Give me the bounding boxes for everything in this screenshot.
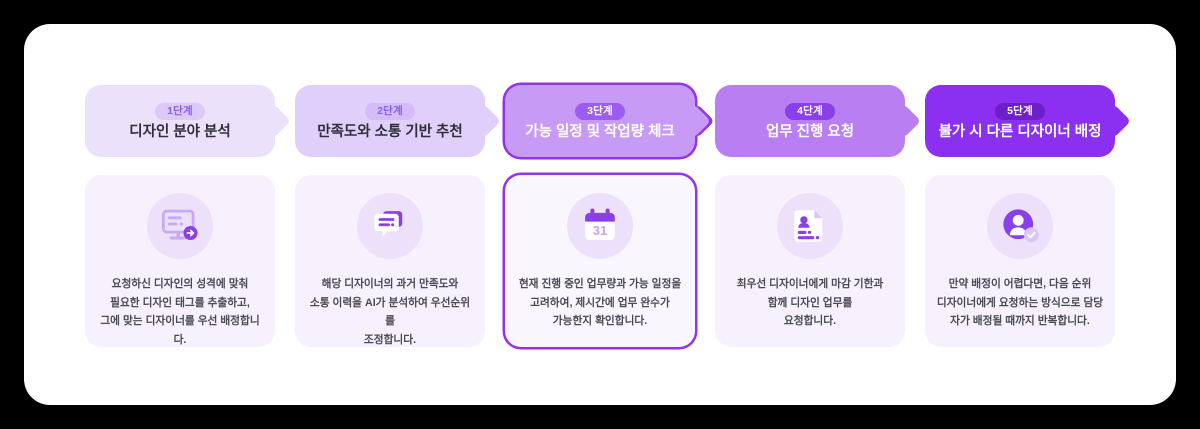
step-description: 현재 진행 중인 업무량과 가능 일정을 고려하여, 제시간에 업무 완수가 가…	[509, 275, 691, 331]
chat-bubble-icon	[369, 205, 411, 247]
step-body-1[interactable]: 요청하신 디자인의 성격에 맞춰 필요한 디자인 태그를 추출하고, 그에 맞는…	[85, 175, 275, 347]
chevron-right-icon	[257, 104, 291, 138]
step-header-content: 3단계가능 일정 및 작업량 체크	[525, 103, 675, 140]
step-description: 해당 디자이너의 과거 만족도와 소통 이력을 AI가 분석하여 우선순위를 조…	[295, 275, 485, 350]
step-badge: 1단계	[155, 103, 205, 121]
process-flow: 1단계디자인 분야 분석요청하신 디자인의 성격에 맞춰 필요한 디자인 태그를…	[85, 85, 1115, 347]
calendar-31-icon: 31	[579, 205, 621, 247]
step-header-4[interactable]: 4단계업무 진행 요청	[715, 85, 905, 157]
step-column-2: 2단계만족도와 소통 기반 추천해당 디자이너의 과거 만족도와 소통 이력을 …	[295, 85, 485, 347]
step-title: 불가 시 다른 디자이너 배정	[939, 125, 1102, 140]
step-header-content: 4단계업무 진행 요청	[766, 103, 854, 140]
step-description: 요청하신 디자인의 성격에 맞춰 필요한 디자인 태그를 추출하고, 그에 맞는…	[85, 275, 275, 350]
chevron-right-icon	[1097, 104, 1131, 138]
svg-text:31: 31	[593, 223, 608, 238]
flow-panel: 1단계디자인 분야 분석요청하신 디자인의 성격에 맞춰 필요한 디자인 태그를…	[24, 24, 1176, 405]
chevron-right-icon	[887, 104, 921, 138]
step-description: 최우선 디자이너에게 마감 기한과 함께 디자인 업무를 요청합니다.	[727, 275, 894, 331]
person-check-icon	[999, 205, 1041, 247]
chevron-right-icon	[467, 104, 501, 138]
icon-backdrop	[147, 193, 213, 259]
monitor-arrow-icon	[159, 205, 201, 247]
step-column-1: 1단계디자인 분야 분석요청하신 디자인의 성격에 맞춰 필요한 디자인 태그를…	[85, 85, 275, 347]
step-title: 만족도와 소통 기반 추천	[317, 125, 463, 140]
step-title: 가능 일정 및 작업량 체크	[525, 125, 675, 140]
step-title: 디자인 분야 분석	[129, 125, 230, 140]
icon-backdrop	[777, 193, 843, 259]
step-body-2[interactable]: 해당 디자이너의 과거 만족도와 소통 이력을 AI가 분석하여 우선순위를 조…	[295, 175, 485, 347]
step-badge: 5단계	[995, 103, 1045, 121]
step-body-5[interactable]: 만약 배정이 어렵다면, 다음 순위 디자이너에게 요청하는 방식으로 담당 자…	[925, 175, 1115, 347]
step-header-5[interactable]: 5단계불가 시 다른 디자이너 배정	[925, 85, 1115, 157]
step-header-content: 1단계디자인 분야 분석	[129, 103, 230, 140]
step-title: 업무 진행 요청	[766, 125, 854, 140]
step-header-3[interactable]: 3단계가능 일정 및 작업량 체크	[505, 85, 695, 157]
icon-backdrop	[357, 193, 423, 259]
step-description: 만약 배정이 어렵다면, 다음 순위 디자이너에게 요청하는 방식으로 담당 자…	[927, 275, 1113, 331]
chevron-right-icon	[677, 104, 711, 138]
step-header-1[interactable]: 1단계디자인 분야 분석	[85, 85, 275, 157]
step-badge: 3단계	[575, 103, 625, 121]
step-column-5: 5단계불가 시 다른 디자이너 배정만약 배정이 어렵다면, 다음 순위 디자이…	[925, 85, 1115, 347]
step-header-content: 2단계만족도와 소통 기반 추천	[317, 103, 463, 140]
step-column-3: 3단계가능 일정 및 작업량 체크31현재 진행 중인 업무량과 가능 일정을 …	[505, 85, 695, 347]
step-badge: 2단계	[365, 103, 415, 121]
step-body-3[interactable]: 31현재 진행 중인 업무량과 가능 일정을 고려하여, 제시간에 업무 완수가…	[505, 175, 695, 347]
step-column-4: 4단계업무 진행 요청최우선 디자이너에게 마감 기한과 함께 디자인 업무를 …	[715, 85, 905, 347]
step-body-4[interactable]: 최우선 디자이너에게 마감 기한과 함께 디자인 업무를 요청합니다.	[715, 175, 905, 347]
step-header-content: 5단계불가 시 다른 디자이너 배정	[939, 103, 1102, 140]
icon-backdrop	[987, 193, 1053, 259]
step-header-2[interactable]: 2단계만족도와 소통 기반 추천	[295, 85, 485, 157]
step-badge: 4단계	[785, 103, 835, 121]
document-person-icon	[789, 205, 831, 247]
icon-backdrop: 31	[567, 193, 633, 259]
